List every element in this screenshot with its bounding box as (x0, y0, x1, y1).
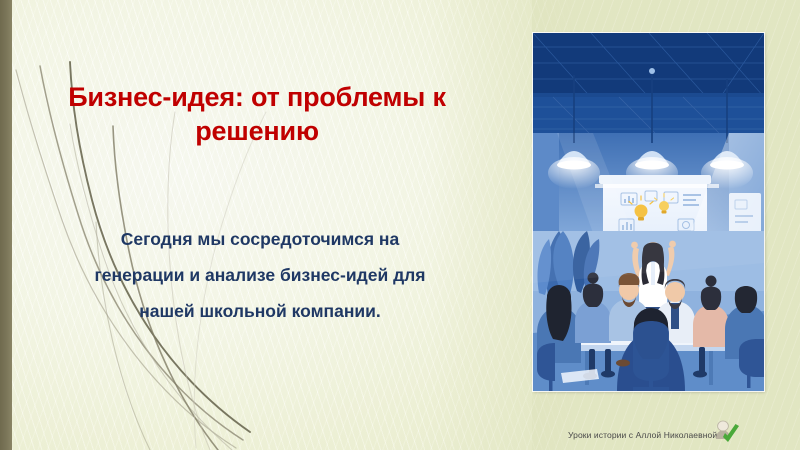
slide-title: Бизнес-идея: от проблемы к решению (22, 80, 492, 149)
watermark-text: Уроки истории с Аллой Николаевной (568, 430, 717, 440)
presentation-slide: Бизнес-идея: от проблемы к решению Сегод… (0, 0, 800, 450)
slide-body-line-2: генерации и анализе бизнес-идей для (38, 258, 482, 294)
slide-title-line-2: решению (22, 114, 492, 148)
slide-body-line-1: Сегодня мы сосредоточимся на (38, 222, 482, 258)
person-with-green-check-icon (712, 419, 742, 445)
slide-title-line-1: Бизнес-идея: от проблемы к (22, 80, 492, 114)
left-accent-bar (0, 0, 12, 450)
slide-body-line-3: нашей школьной компании. (38, 294, 482, 330)
watermark: Уроки истории с Аллой Николаевной (568, 425, 742, 445)
slide-body-text: Сегодня мы сосредоточимся на генерации и… (38, 222, 482, 330)
slide-image (533, 33, 764, 391)
business-meeting-illustration (533, 33, 764, 391)
